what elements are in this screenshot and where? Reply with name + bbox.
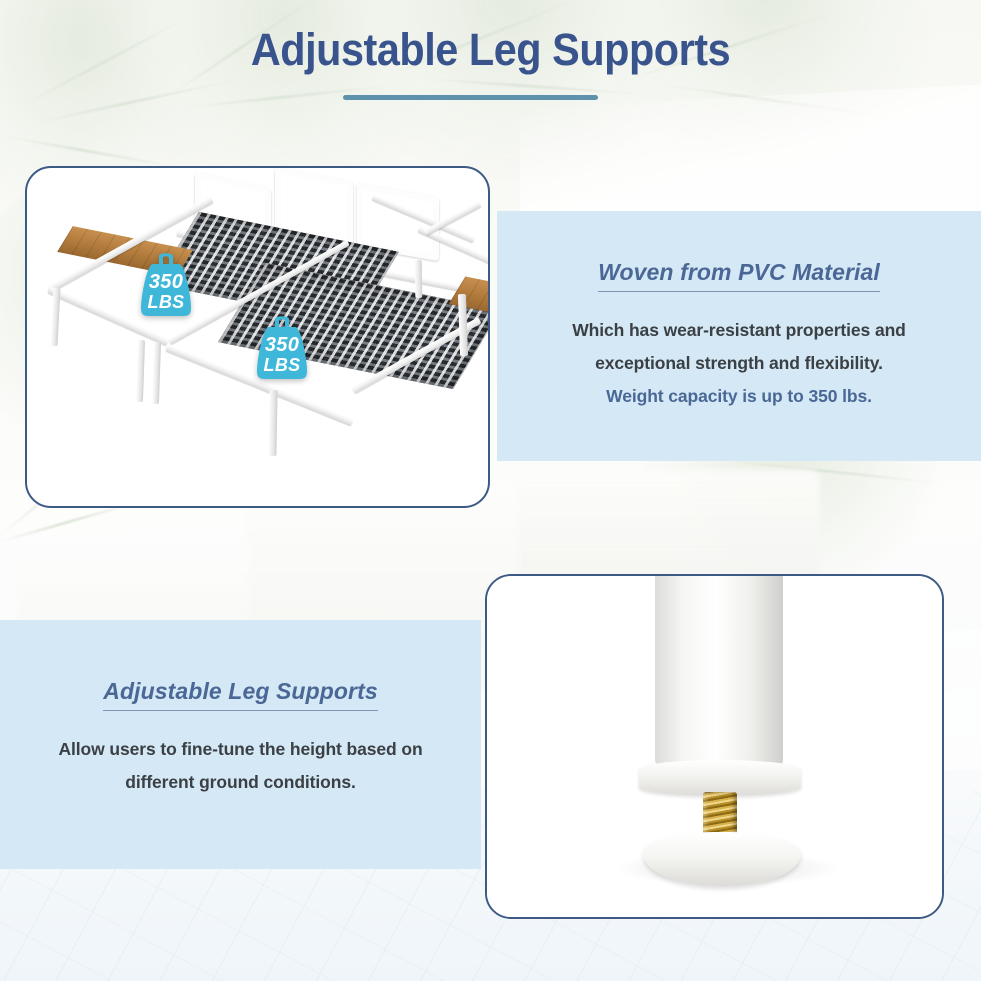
panel-body-pvc: Which has wear-resistant properties and … [497,314,981,413]
panel-body-line: exceptional strength and flexibility. [497,347,981,380]
title-underline-rule [343,95,598,100]
panel-heading-legs: Adjustable Leg Supports [103,678,377,711]
bed-frame-illustration: 350 LBS 350 LBS [27,168,488,506]
weight-badge-350lbs: 350 LBS [135,252,197,318]
product-image-card-leg-closeup [485,574,944,919]
panel-heading-pvc: Woven from PVC Material [598,259,880,292]
panel-body-line: Allow users to fine-tune the height base… [0,733,481,766]
infographic-page: Adjustable Leg Supports [0,0,981,981]
panel-body-line: different ground conditions. [0,766,481,799]
product-image-card-bed-frame: 350 LBS 350 LBS [25,166,490,508]
page-title: Adjustable Leg Supports [39,24,942,76]
panel-body-line-accent: Weight capacity is up to 350 lbs. [497,380,981,413]
info-panel-pvc: Woven from PVC Material Which has wear-r… [497,211,981,461]
weight-badge-350lbs: 350 LBS [251,315,313,381]
panel-body-legs: Allow users to fine-tune the height base… [0,733,481,799]
panel-body-line: Which has wear-resistant properties and [497,314,981,347]
info-panel-adjustable-legs: Adjustable Leg Supports Allow users to f… [0,620,481,869]
leg-closeup-illustration [487,576,942,917]
